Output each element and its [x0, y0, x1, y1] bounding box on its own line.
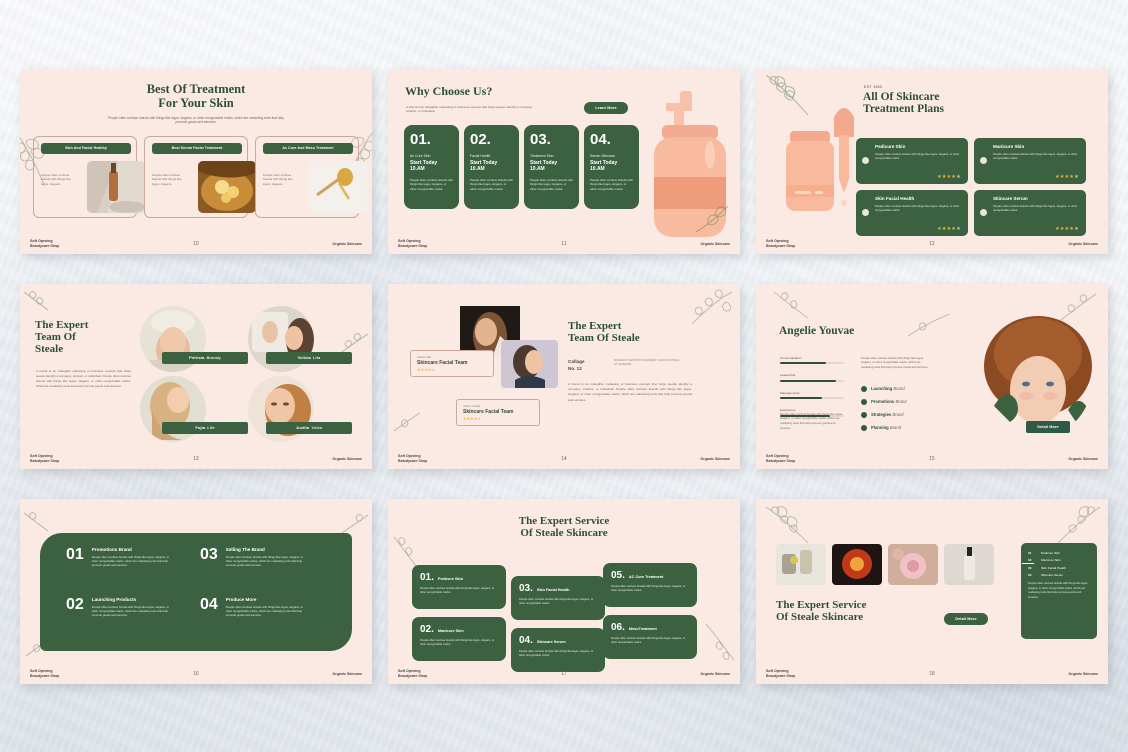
thumbnail[interactable] — [888, 544, 938, 585]
leaf-decor-icon — [684, 288, 736, 328]
item-title: Produce More — [226, 597, 310, 602]
member-first-name: Petricia — [189, 355, 204, 360]
star-rating: ★★★★★ — [937, 174, 961, 180]
footer-brand: Soft Opening Beautycare Shop — [30, 239, 59, 248]
box-headline: Start Today 10.AM — [470, 160, 513, 172]
star-rating: ★★★★★ — [1055, 174, 1079, 180]
title-line-2: Of Steale Skincare — [776, 611, 866, 623]
star-rating: ★★★★★ — [417, 367, 487, 372]
collage-photo-2 — [501, 340, 558, 388]
page-title: The Expert Team Of Steale — [568, 320, 640, 345]
title-line-3: Steale — [35, 343, 88, 355]
title-line-1: The Expert — [35, 319, 88, 331]
box-number: 01. — [410, 132, 453, 147]
star-rating: ★★★★★ — [463, 416, 533, 421]
slide-footer: Soft Opening Beautycare Shop 17 Organic … — [388, 669, 740, 678]
item-title: Selling The Brand — [226, 547, 310, 552]
leaf-decor-icon — [340, 513, 370, 535]
star-rating: ★★★★★ — [1055, 226, 1079, 232]
plan-body: People often confuse brands with things … — [875, 152, 961, 161]
footer-tagline: Organic Skincare — [700, 457, 730, 461]
slide-footer: Soft Opening Beautycare Shop 12 Organic … — [756, 239, 1108, 248]
card-body: People often confuse brands with things … — [611, 585, 689, 594]
thumbnail-strip — [776, 544, 994, 585]
card-number: 06. — [611, 622, 625, 633]
footer-tagline: Organic Skincare — [700, 242, 730, 246]
gear-bullet-icon — [861, 425, 867, 431]
skill-bar: Communication — [780, 356, 844, 365]
card-body: People often confuse brands with things … — [152, 173, 184, 187]
gear-bullet-icon — [861, 412, 867, 418]
tag-name: Julieci Yuvata — [463, 404, 533, 408]
footer-brand: Soft Opening Beautycare Shop — [398, 239, 427, 248]
card-image-lemon-hands — [198, 161, 256, 213]
list-item[interactable]: 03 Skin Facial Health — [1028, 566, 1090, 570]
slide-footer: Soft Opening Beautycare Shop 13 Organic … — [20, 454, 372, 463]
list-bold: Promotions — [871, 399, 894, 404]
slide-footer: Soft Opening Beautycare Shop 14 Organic … — [388, 454, 740, 463]
card-number: 04. — [519, 635, 533, 646]
member-name-badge: PetriciaBrandy — [162, 352, 248, 364]
plan-card[interactable]: Manicure Skin People often confuse brand… — [974, 138, 1086, 184]
title-line-2: Team Of — [35, 331, 88, 343]
card-body: People often confuse brands with things … — [420, 639, 498, 648]
item-number: 03 — [200, 547, 218, 568]
box-headline: Start Today 10.AM — [590, 160, 633, 172]
card-label: Skin And Facial Healthy — [41, 143, 131, 154]
page-number: 11 — [561, 241, 566, 247]
title-line-1: All Of Skincare — [863, 91, 944, 104]
page-title: Best Of Treatment For Your Skin — [20, 69, 372, 110]
member-first-name: Fujia — [195, 425, 205, 430]
skill-label: Communication — [780, 356, 844, 360]
slide-17[interactable]: The Expert Service Of Steale Skincare 01… — [388, 499, 740, 684]
leaf-decor-icon — [762, 505, 818, 547]
page-number: 16 — [193, 671, 199, 677]
panel-item[interactable]: 03 Selling The Brand People often confus… — [200, 547, 310, 568]
box-body: People often confuse brands with things … — [590, 178, 633, 192]
skill-bar: Leadership — [780, 373, 844, 382]
footer-brand: Soft Opening Beautycare Shop — [30, 669, 59, 678]
testimonial-tag[interactable]: Julieci Yuvata Skincare Facial Team ★★★★… — [456, 399, 540, 427]
tag-title: Skincare Facial Team — [417, 360, 487, 366]
panel-item[interactable]: 02 Launching Products People often confu… — [66, 597, 176, 618]
slide-footer: Soft Opening Beautycare Shop 10 Organic … — [20, 239, 372, 248]
soap-pump-bottle-icon — [640, 91, 736, 241]
item-number: 03 — [1028, 566, 1036, 570]
card-title: AC Cure Treatment — [629, 575, 663, 579]
list-item[interactable]: 02 Manicure Skin — [1028, 558, 1090, 562]
footer-tagline: Organic Skincare — [700, 672, 730, 676]
panel-item[interactable]: 01 Promotions Brand People often confuse… — [66, 547, 176, 568]
check-circle-icon — [980, 209, 987, 216]
style-meta-text: MINIMALIST AESTHETIC GRADIENT COLOUR VIN… — [614, 359, 684, 368]
member-name-badge: JuviliaYulva — [266, 422, 352, 434]
treatment-card[interactable]: Skin And Facial Healthy People often con… — [33, 136, 137, 218]
plan-body: People often confuse brands with things … — [875, 204, 961, 213]
plan-title: Manicure Skin — [993, 144, 1079, 149]
item-label: Skin Facial Health — [1041, 566, 1066, 570]
list-italic: Brand — [892, 412, 903, 417]
slide-16[interactable]: 01 Promotions Brand People often confuse… — [20, 499, 372, 684]
slide-footer: Soft Opening Beautycare Shop 18 Organic … — [756, 669, 1108, 678]
card-label: Best Serum Facial Treatment — [152, 143, 242, 154]
card-number: 03. — [519, 583, 533, 594]
card-body: People often confuse brands with things … — [41, 173, 73, 187]
item-title: Launching Products — [92, 597, 176, 602]
footer-tagline: Organic Skincare — [332, 672, 362, 676]
item-label: Skincare Serum — [1041, 573, 1063, 577]
box-number: 02. — [470, 132, 513, 147]
footer-brand: Soft Opening Beautycare Shop — [766, 454, 795, 463]
benefit-box-list: 01. Ac Cure Skin Start Today 10.AM Peopl… — [404, 125, 639, 209]
slide-footer: Soft Opening Beautycare Shop 15 Organic … — [756, 454, 1108, 463]
leaf-decor-icon — [392, 411, 422, 435]
item-body: People often confuse brands with things … — [226, 605, 310, 618]
card-label: Ac Cure And Meso Treatment — [263, 143, 353, 154]
service-card[interactable]: 01. Pedicure Skin People often confuse b… — [412, 565, 506, 609]
member-name-badge: FujiaLife — [162, 422, 248, 434]
card-body: People often confuse brands with things … — [420, 587, 498, 596]
subtitle: People often confuse brands with things … — [104, 116, 289, 125]
plan-card[interactable]: Skincare Serum People often confuse bran… — [974, 190, 1086, 236]
page-number: 18 — [929, 671, 935, 677]
card-title: Manicure Skin — [438, 629, 464, 633]
detail-more-button[interactable]: Detail More — [1026, 421, 1070, 433]
treatment-card-list: Skin And Facial Healthy People often con… — [20, 136, 372, 218]
service-card[interactable]: 03. Skin Facial Health People often conf… — [511, 576, 605, 620]
leaf-decor-icon — [22, 511, 50, 533]
treatment-card[interactable]: Best Serum Facial Treatment People often… — [144, 136, 248, 218]
detail-more-button[interactable]: Detail More — [944, 613, 988, 625]
footer-tagline: Organic Skincare — [1068, 457, 1098, 461]
card-body: People often confuse brands with things … — [611, 637, 689, 646]
title-line-1: The Expert — [568, 320, 640, 332]
slide-body: A brand is an intangible marketing or bu… — [36, 369, 131, 389]
footer-tagline: Organic Skincare — [1068, 672, 1098, 676]
feature-list-item: Strategies Brand — [861, 412, 904, 418]
box-small-label: Treatment Skin — [530, 154, 573, 158]
feature-list-item: Promotions Brand — [861, 399, 907, 405]
star-rating: ★★★★★ — [937, 226, 961, 232]
footer-brand: Soft Opening Beautycare Shop — [766, 239, 795, 248]
benefit-box[interactable]: 03. Treatment Skin Start Today 10.AM Peo… — [524, 125, 579, 209]
benefit-box[interactable]: 02. Facial Health Start Today 10.AM Peop… — [464, 125, 519, 209]
plan-card-list: Pedicure Skin People often confuse brand… — [856, 138, 1086, 236]
collage-label: Collage No. 12 — [568, 358, 585, 373]
item-number: 04 — [1028, 573, 1036, 577]
numbered-panel: 01 Promotions Brand People often confuse… — [40, 533, 352, 651]
slide-footer: Soft Opening Beautycare Shop 11 Organic … — [388, 239, 740, 248]
feature-list-item: Launching Brand — [861, 386, 905, 392]
panel-item[interactable]: 04 Produce More People often confuse bra… — [200, 597, 310, 618]
service-list-panel: 01 Pedicure Skin 02 Manicure Skin 03 Ski… — [1021, 543, 1097, 639]
treatment-card[interactable]: Ac Cure And Meso Treatment People often … — [255, 136, 359, 218]
plan-card[interactable]: Skin Facial Health People often confuse … — [856, 190, 968, 236]
member-last-name: Brandy — [206, 355, 220, 360]
page-title: All Of Skincare Treatment Plans — [863, 91, 944, 117]
benefit-box[interactable]: 01. Ac Cure Skin Start Today 10.AM Peopl… — [404, 125, 459, 209]
footer-brand: Soft Opening Beautycare Shop — [766, 669, 795, 678]
member-first-name: Juvilia — [296, 425, 309, 430]
box-headline: Start Today 10.AM — [530, 160, 573, 172]
leaf-decor-icon — [1048, 505, 1104, 547]
member-last-name: Yulva — [311, 425, 322, 430]
list-italic: Brand — [895, 399, 906, 404]
slide-18[interactable]: The Expert Service Of Steale Skincare De… — [756, 499, 1108, 684]
footer-tagline: Organic Skincare — [332, 242, 362, 246]
card-title: MesoTreatment — [629, 627, 657, 631]
tag-name: Velicia Ulta — [417, 355, 487, 359]
portrait-photo — [982, 310, 1094, 438]
plan-card[interactable]: Pedicure Skin People often confuse brand… — [856, 138, 968, 184]
page-number: 10 — [193, 241, 199, 247]
service-card[interactable]: 04. Skincare Serum People often confuse … — [511, 628, 605, 672]
card-title: Skincare Serum — [537, 640, 566, 644]
title-line-2: Team Of Steale — [568, 332, 640, 344]
title-line-2: Treatment Plans — [863, 103, 944, 116]
box-headline: Start Today 10.AM — [410, 160, 453, 172]
slide-footer: Soft Opening Beautycare Shop 16 Organic … — [20, 669, 372, 678]
title-line-1: The Expert Service — [388, 515, 740, 527]
item-title: Promotions Brand — [92, 547, 176, 552]
check-circle-icon — [862, 157, 869, 164]
box-number: 04. — [590, 132, 633, 147]
list-bold: Strategies — [871, 412, 891, 417]
subtitle: A brand is an intangible marketing or bu… — [406, 105, 536, 114]
card-number: 02. — [420, 624, 434, 635]
item-label: Manicure Skin — [1041, 558, 1061, 562]
benefit-box[interactable]: 04. Serum Skincare Start Today 10.AM Peo… — [584, 125, 639, 209]
slide-body: A brand is an intangible marketing or bu… — [568, 382, 692, 404]
item-number: 01 — [66, 547, 84, 568]
slide-grid: Best Of Treatment For Your Skin People o… — [0, 0, 1128, 752]
left-body: People often confuse brands with things … — [780, 412, 846, 432]
testimonial-tag[interactable]: Velicia Ulta Skincare Facial Team ★★★★★ — [410, 350, 494, 378]
box-body: People often confuse brands with things … — [410, 178, 453, 192]
service-card[interactable]: 02. Manicure Skin People often confuse b… — [412, 617, 506, 661]
dropper-bottle-icon — [784, 97, 862, 217]
thumbnail[interactable] — [944, 544, 994, 585]
service-card[interactable]: 05. AC Cure Treatment People often confu… — [603, 563, 697, 607]
page-title: Angelie Youvae — [779, 325, 854, 338]
slide-11[interactable]: Why Choose Us? A brand is an intangible … — [388, 69, 740, 254]
plan-body: People often confuse brands with things … — [993, 204, 1079, 213]
plan-title: Skin Facial Health — [875, 196, 961, 201]
box-body: People often confuse brands with things … — [470, 178, 513, 192]
item-body: People often confuse brands with things … — [92, 555, 176, 568]
card-title: Skin Facial Health — [537, 588, 570, 592]
card-body: People often confuse brands with things … — [519, 598, 597, 607]
panel-body: People often confuse brands with things … — [1028, 582, 1090, 601]
member-name-badge: VeliciaLita — [266, 352, 352, 364]
item-number: 02 — [66, 597, 84, 618]
footer-brand: Soft Opening Beautycare Shop — [30, 454, 59, 463]
footer-tagline: Organic Skincare — [1068, 242, 1098, 246]
page-number: 15 — [929, 456, 935, 462]
box-number: 03. — [530, 132, 573, 147]
tag-title: Skincare Facial Team — [463, 409, 533, 415]
thumbnail[interactable] — [776, 544, 826, 585]
member-last-name: Life — [207, 425, 215, 430]
check-circle-icon — [862, 209, 869, 216]
leaf-decor-icon — [22, 290, 52, 314]
title-line-2: Of Steale Skincare — [388, 527, 740, 539]
page-number: 14 — [561, 456, 567, 462]
page-title: The Expert Service Of Steale Skincare — [776, 599, 866, 624]
right-body: People often confuse brands with things … — [861, 356, 929, 371]
item-body: People often confuse brands with things … — [226, 555, 310, 568]
list-italic: Brand — [890, 425, 901, 430]
title-line-2: For Your Skin — [20, 96, 372, 110]
member-first-name: Velicia — [298, 355, 311, 360]
member-last-name: Lita — [313, 355, 321, 360]
slide-15[interactable]: Angelie Youvae Communication Leadership … — [756, 284, 1108, 469]
gear-bullet-icon — [861, 399, 867, 405]
page-number: 12 — [929, 241, 935, 247]
footer-tagline: Organic Skincare — [332, 457, 362, 461]
card-body: People often confuse brands with things … — [263, 173, 295, 187]
item-number: 02 — [1028, 558, 1036, 562]
page-number: 13 — [193, 456, 199, 462]
leaf-decor-icon — [770, 290, 812, 322]
slide-12[interactable]: EST 1980 All Of Skincare Treatment Plans… — [756, 69, 1108, 254]
slide-13[interactable]: The Expert Team Of Steale A brand is an … — [20, 284, 372, 469]
item-number: 04 — [200, 597, 218, 618]
footer-brand: Soft Opening Beautycare Shop — [398, 669, 427, 678]
slide-10[interactable]: Best Of Treatment For Your Skin People o… — [20, 69, 372, 254]
page-title: The Expert Service Of Steale Skincare — [388, 499, 740, 540]
card-number: 01. — [420, 572, 434, 583]
box-small-label: Facial Health — [470, 154, 513, 158]
card-number: 05. — [611, 570, 625, 581]
arrow-icon — [1022, 563, 1034, 564]
item-body: People often confuse brands with things … — [92, 605, 176, 618]
gear-bullet-icon — [861, 386, 867, 392]
list-bold: Planning — [871, 425, 889, 430]
card-body: People often confuse brands with things … — [519, 650, 597, 659]
item-number: 01 — [1028, 551, 1036, 555]
title-line-1: Best Of Treatment — [20, 82, 372, 96]
title-line-1: The Expert Service — [776, 599, 866, 611]
skill-label: Leadership — [780, 373, 844, 377]
leaf-decor-icon — [906, 310, 952, 342]
plan-body: People often confuse brands with things … — [993, 152, 1079, 161]
box-body: People often confuse brands with things … — [530, 178, 573, 192]
list-italic: Brand — [893, 386, 904, 391]
list-item[interactable]: 04 Skincare Serum — [1028, 573, 1090, 577]
service-card[interactable]: 06. MesoTreatment People often confuse b… — [603, 615, 697, 659]
plan-title: Pedicure Skin — [875, 144, 961, 149]
feature-list-item: Planning Brand — [861, 425, 901, 431]
item-label: Pedicure Skin — [1041, 551, 1060, 555]
learn-more-button[interactable]: Learn More — [584, 102, 628, 114]
page-title: The Expert Team Of Steale — [35, 319, 88, 356]
est-label: EST 1980 — [864, 85, 882, 89]
page-number: 17 — [561, 671, 567, 677]
box-small-label: Serum Skincare — [590, 154, 633, 158]
slide-14[interactable]: Velicia Ulta Skincare Facial Team ★★★★★ … — [388, 284, 740, 469]
plan-title: Skincare Serum — [993, 196, 1079, 201]
list-bold: Launching — [871, 386, 892, 391]
page-title: Why Choose Us? — [405, 85, 492, 98]
skill-label: Managements — [780, 391, 844, 395]
box-small-label: Ac Cure Skin — [410, 154, 453, 158]
thumbnail[interactable] — [832, 544, 882, 585]
card-title: Pedicure Skin — [438, 577, 463, 581]
card-image-honey-dipper — [309, 161, 367, 213]
check-circle-icon — [980, 157, 987, 164]
leaf-decor-icon — [702, 622, 736, 662]
skill-bar: Managements — [780, 391, 844, 400]
footer-brand: Soft Opening Beautycare Shop — [398, 454, 427, 463]
list-item[interactable]: 01 Pedicure Skin — [1028, 551, 1090, 555]
card-image-serum-dropper — [87, 161, 145, 213]
